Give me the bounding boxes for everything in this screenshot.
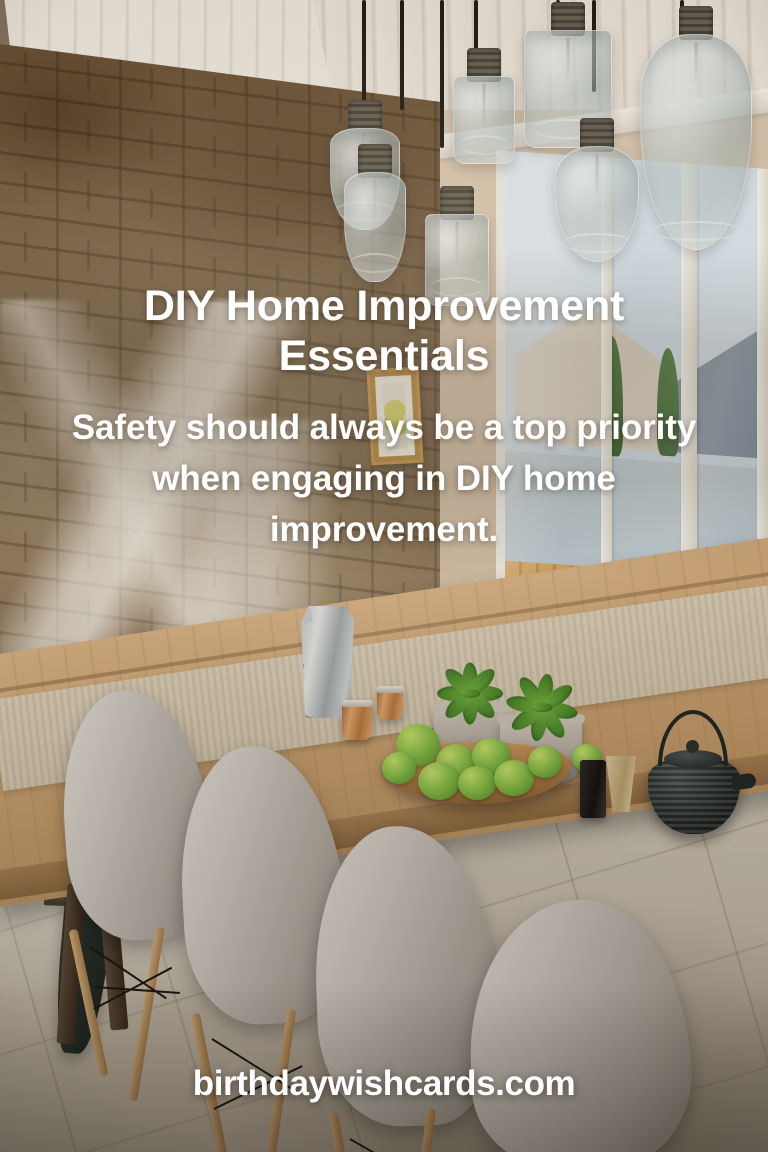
text-overlay: DIY Home Improvement Essentials Safety s… bbox=[0, 0, 768, 1152]
pinterest-style-quote-card: DIY Home Improvement Essentials Safety s… bbox=[0, 0, 768, 1152]
page-subtitle: Safety should always be a top priority w… bbox=[64, 402, 704, 555]
brand-watermark: birthdaywishcards.com bbox=[0, 1064, 768, 1104]
headline-block: DIY Home Improvement Essentials Safety s… bbox=[64, 282, 704, 555]
page-title: DIY Home Improvement Essentials bbox=[64, 282, 704, 382]
